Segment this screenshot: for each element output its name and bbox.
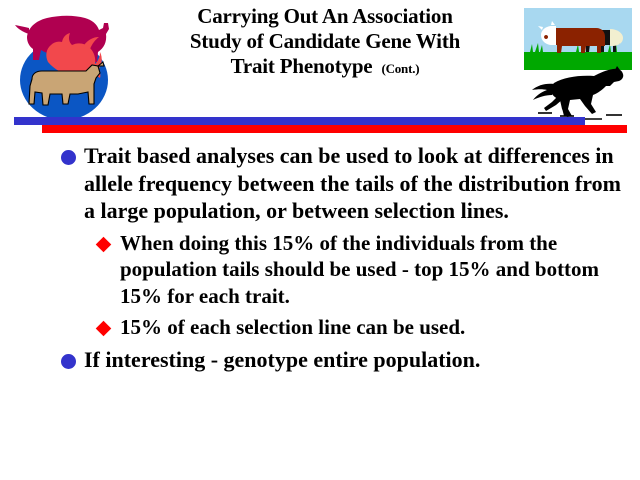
bullet-item-4: If interesting - genotype entire populat… bbox=[0, 346, 640, 374]
bullet-text-1: Trait based analyses can be used to look… bbox=[84, 143, 621, 223]
page-title: Carrying Out An Association Study of Can… bbox=[150, 4, 500, 81]
circle-bullet-icon bbox=[61, 354, 76, 369]
slide-header: Carrying Out An Association Study of Can… bbox=[0, 0, 640, 136]
diamond-bullet-icon bbox=[96, 236, 112, 252]
galloping-horse-silhouette bbox=[518, 66, 636, 122]
cattle-in-pasture-photo bbox=[524, 8, 632, 70]
bullet-item-2: When doing this 15% of the individuals f… bbox=[0, 230, 640, 310]
bullet-text-4: If interesting - genotype entire populat… bbox=[84, 347, 480, 372]
livestock-logo bbox=[8, 4, 120, 122]
divider-bar-blue bbox=[14, 117, 585, 125]
bullet-item-1: Trait based analyses can be used to look… bbox=[0, 142, 640, 225]
title-line-2: Study of Candidate Gene With bbox=[190, 29, 460, 53]
circle-bullet-icon bbox=[61, 150, 76, 165]
bullet-text-3: 15% of each selection line can be used. bbox=[120, 315, 465, 339]
slide-body: Trait based analyses can be used to look… bbox=[0, 142, 640, 373]
title-line-1: Carrying Out An Association bbox=[197, 4, 452, 28]
divider-bar-red bbox=[42, 125, 627, 133]
title-line-3: Trait Phenotype bbox=[231, 54, 373, 78]
diamond-bullet-icon bbox=[96, 321, 112, 337]
bullet-item-3: 15% of each selection line can be used. bbox=[0, 314, 640, 341]
bullet-text-2: When doing this 15% of the individuals f… bbox=[120, 231, 599, 308]
title-continuation-label: (Cont.) bbox=[372, 61, 419, 76]
